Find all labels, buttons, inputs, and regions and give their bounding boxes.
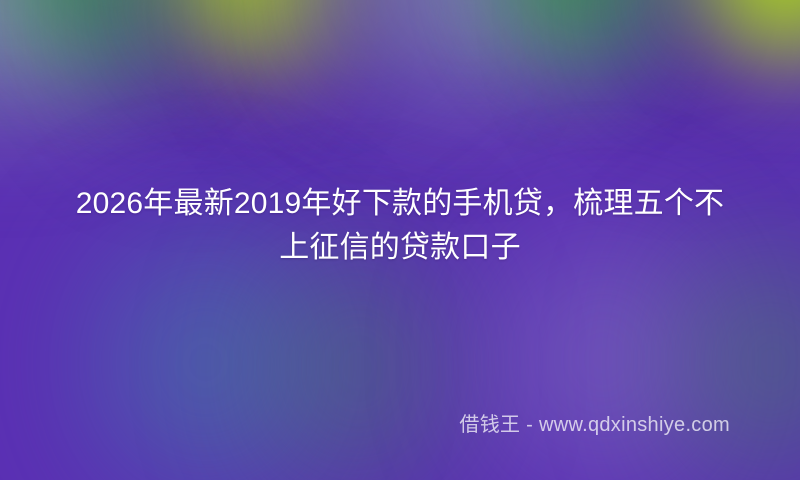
watermark: 借钱王 - www.qdxinshiye.com (459, 412, 730, 438)
page-title: 2026年最新2019年好下款的手机贷，梳理五个不 上征信的贷款口子 (34, 182, 766, 270)
page-title-container: 2026年最新2019年好下款的手机贷，梳理五个不 上征信的贷款口子 (0, 182, 800, 270)
article-banner: 2026年最新2019年好下款的手机贷，梳理五个不 上征信的贷款口子 借钱王 -… (0, 0, 800, 480)
background-blob-lavender-lower-right (503, 236, 703, 480)
background-blob-green-lower-mid (268, 251, 448, 480)
